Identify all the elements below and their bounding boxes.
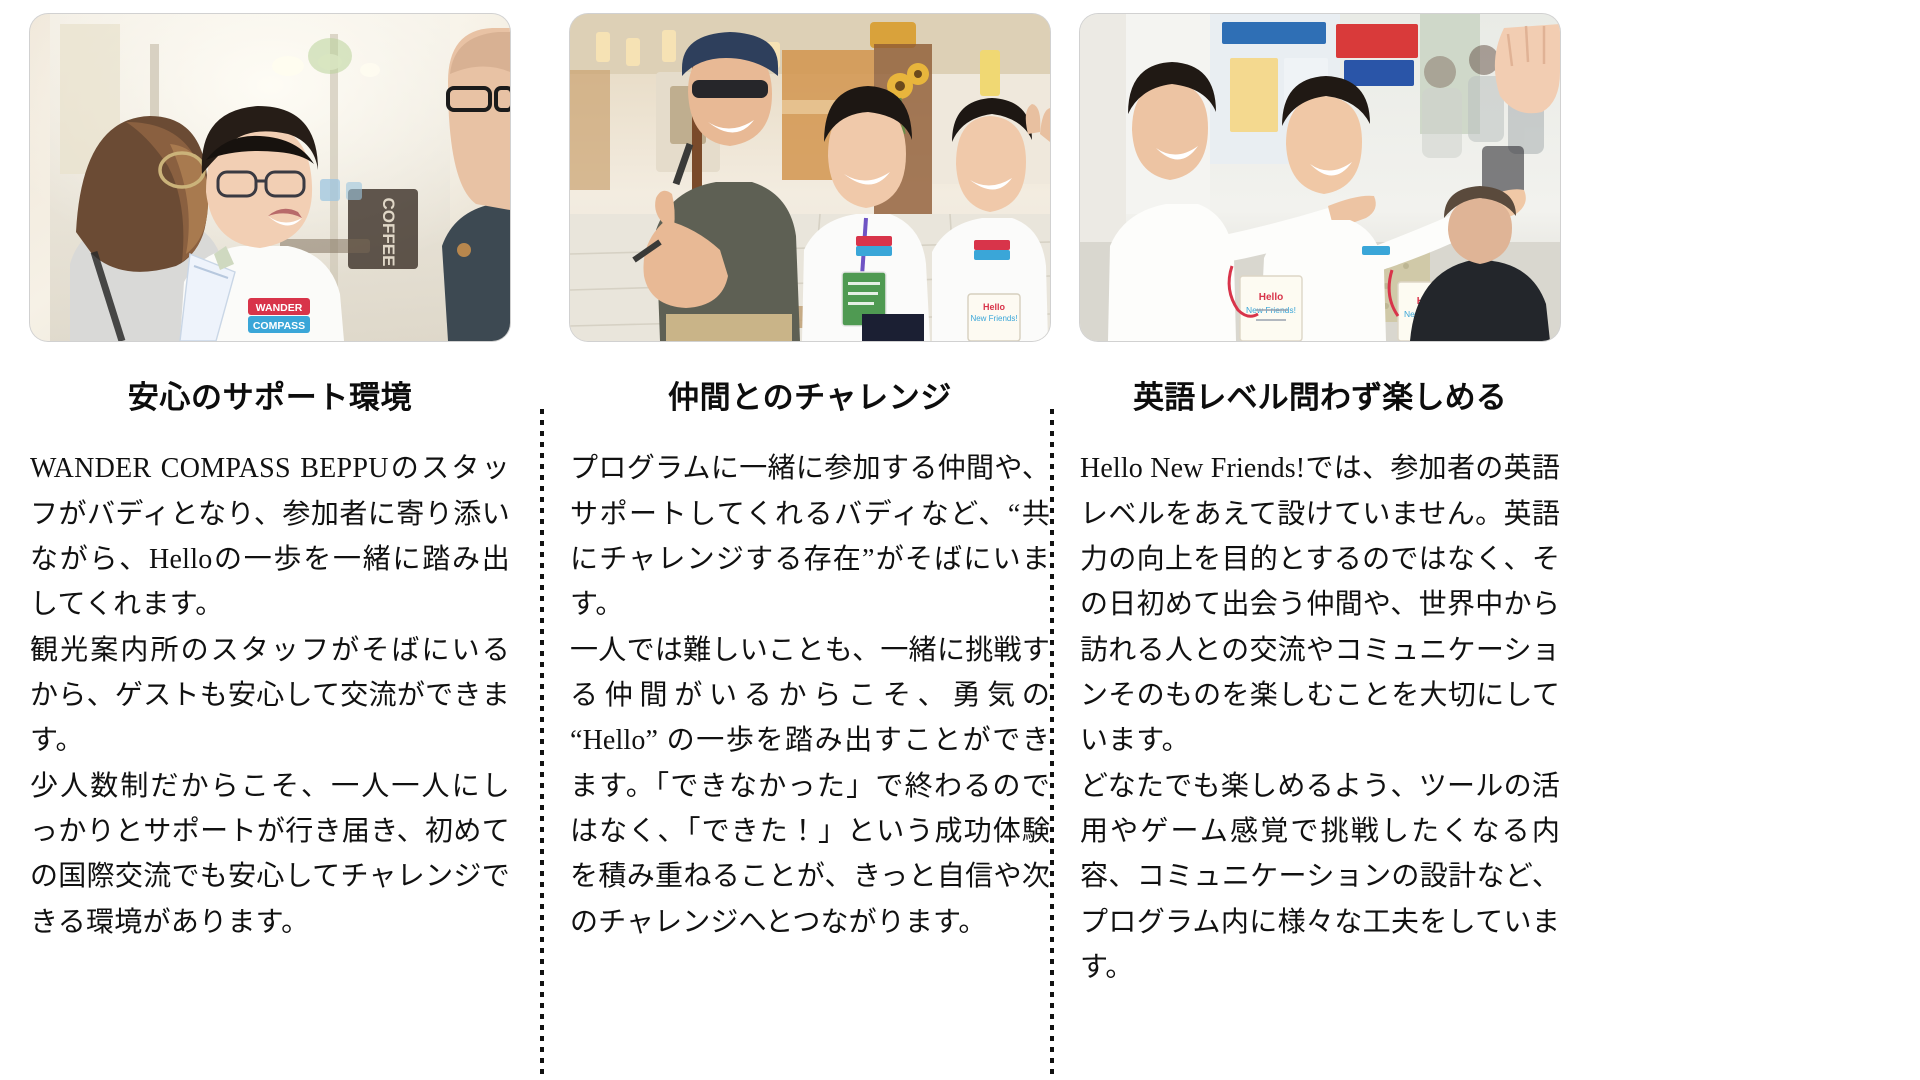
svg-text:WANDER: WANDER — [256, 302, 303, 314]
paragraph: 観光案内所のスタッフがそばにいるから、ゲストも安心して交流ができます。 — [30, 628, 510, 764]
feature-column-challenge: Hello New Friends! 仲間とのチャレンジ プログラムに一緒に参加… — [540, 14, 1050, 1080]
paragraph: 一人では難しいことも、一緒に挑戦する仲間がいるからこそ、勇気の “Hello” … — [570, 628, 1050, 946]
svg-text:Hello: Hello — [1259, 292, 1283, 303]
svg-text:COFFEE: COFFEE — [379, 198, 398, 267]
paragraph: どなたでも楽しめるよう、ツールの活用やゲーム感覚で挑戦したくなる内容、コミュニケ… — [1080, 764, 1560, 991]
svg-text:Hello: Hello — [983, 302, 1006, 312]
column-divider-1 — [540, 409, 544, 1080]
photo-high-five: Hello New Friends! Hello New Friends! — [1080, 14, 1560, 341]
svg-text:COMPASS: COMPASS — [253, 320, 305, 332]
photo-support-environment: COFFEE — [30, 14, 510, 341]
paragraph: Hello New Friends!では、参加者の英語レベルをあえて設けていませ… — [1080, 446, 1560, 764]
paragraph: 少人数制だからこそ、一人一人にしっかりとサポートが行き届き、初めての国際交流でも… — [30, 764, 510, 945]
column-heading-any-english-level: 英語レベル問わず楽しめる — [1080, 341, 1560, 416]
svg-text:New Friends!: New Friends! — [970, 314, 1017, 323]
feature-columns: COFFEE — [30, 14, 1896, 1080]
column-heading-support: 安心のサポート環境 — [30, 341, 510, 416]
column-body-challenge: プログラムに一緒に参加する仲間や、サポートしてくれるバディなど、“共にチャレンジ… — [570, 416, 1050, 945]
feature-section-page: COFFEE — [0, 0, 1920, 1080]
paragraph: WANDER COMPASS BEPPUのスタッフがバディとなり、参加者に寄り添… — [30, 446, 510, 627]
column-divider-2 — [1050, 409, 1054, 1080]
paragraph: プログラムに一緒に参加する仲間や、サポートしてくれるバディなど、“共にチャレンジ… — [570, 446, 1050, 627]
feature-column-support: COFFEE — [30, 14, 540, 1080]
feature-column-any-english-level: Hello New Friends! Hello New Friends! 英語… — [1050, 14, 1560, 1080]
column-heading-challenge: 仲間とのチャレンジ — [570, 341, 1050, 416]
column-body-any-english-level: Hello New Friends!では、参加者の英語レベルをあえて設けていませ… — [1080, 416, 1560, 990]
photo-challenge-with-friends: Hello New Friends! — [570, 14, 1050, 341]
column-body-support: WANDER COMPASS BEPPUのスタッフがバディとなり、参加者に寄り添… — [30, 416, 510, 945]
